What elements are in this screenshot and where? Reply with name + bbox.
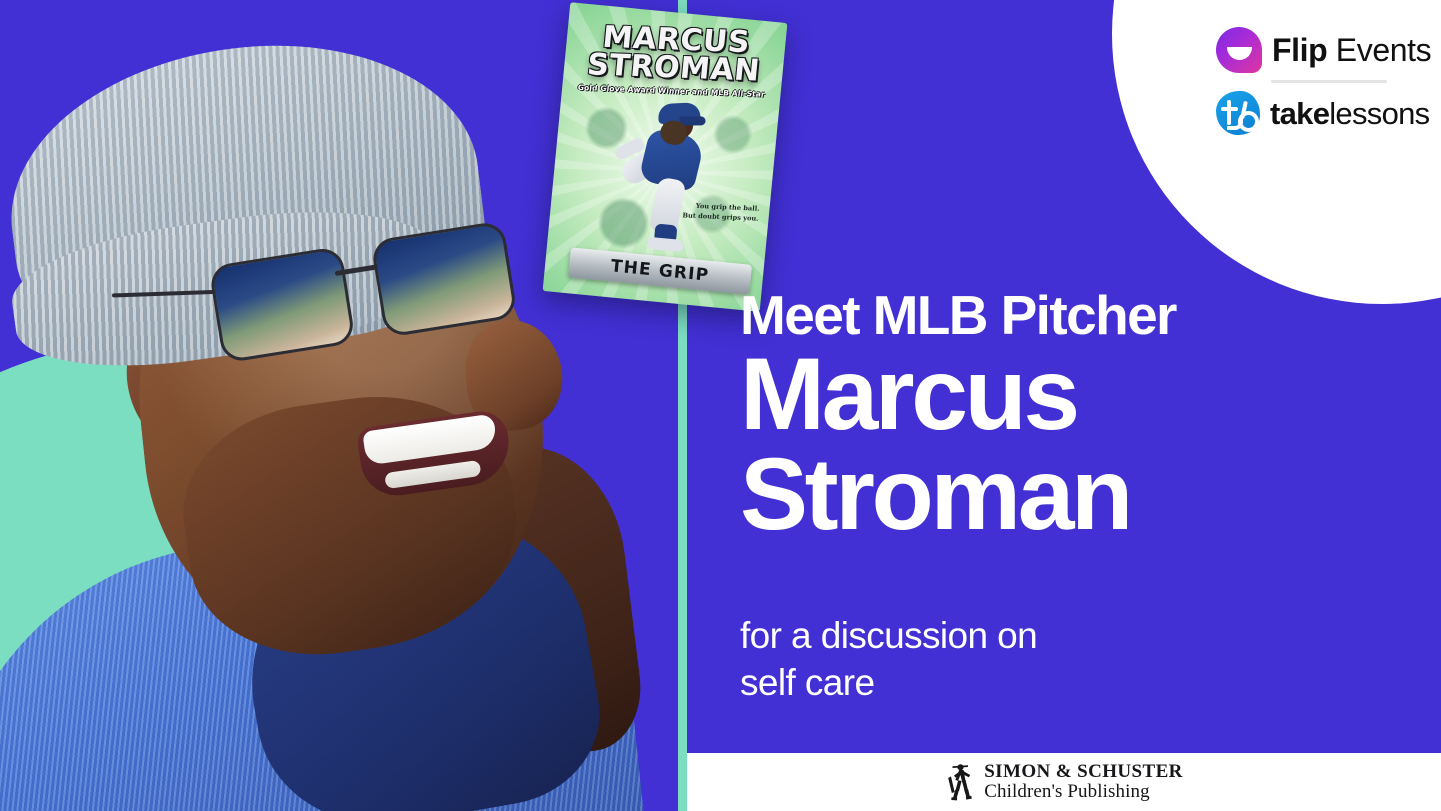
tl-word-bold: take — [1270, 96, 1329, 131]
book-title: MARCUS STROMAN — [563, 23, 787, 87]
tl-l-loop — [1238, 111, 1259, 132]
sunglasses-lens-left — [208, 246, 356, 364]
brand-logo-stack: Flip Events takelessons — [1216, 22, 1441, 140]
book-pitcher-illustration — [606, 93, 732, 253]
tl-word-regular: lessons — [1329, 96, 1429, 131]
book-tagline: You grip the ball. But doubt grips you. — [660, 200, 760, 224]
takelessons-wordmark: takelessons — [1270, 98, 1429, 129]
headline-kicker: Meet MLB Pitcher — [740, 288, 1400, 343]
tl-t-crossbar — [1221, 107, 1238, 111]
sunglasses-lens-right — [370, 220, 518, 338]
headline-name-line2: Stroman — [740, 445, 1400, 545]
publisher-name: SIMON & SCHUSTER — [984, 762, 1183, 782]
portrait-teeth-lower — [384, 460, 481, 489]
book-title-line2: STROMAN — [563, 51, 784, 87]
book-series-label: THE GRIP — [610, 256, 710, 285]
takelessons-logo[interactable]: takelessons — [1216, 86, 1441, 140]
subheadline-line2: self care — [740, 659, 1360, 706]
flip-events-logo[interactable]: Flip Events — [1216, 22, 1441, 78]
publisher-footer-bar: SIMON & SCHUSTER Children's Publishing — [687, 753, 1441, 811]
promo-graphic-canvas: MARCUS STROMAN Gold Glove Award Winner a… — [0, 0, 1441, 811]
flip-smile-shape — [1227, 47, 1252, 60]
headline-name: Marcus Stroman — [740, 345, 1400, 545]
publisher-imprint: Children's Publishing — [984, 782, 1183, 802]
simon-schuster-logo[interactable]: SIMON & SCHUSTER Children's Publishing — [945, 762, 1183, 802]
simon-schuster-sower-icon — [945, 762, 975, 802]
subheadline-line1: for a discussion on — [740, 612, 1360, 659]
flip-speech-bubble-icon — [1216, 27, 1262, 73]
takelessons-tl-monogram-icon — [1216, 91, 1260, 135]
book-cover-the-grip[interactable]: MARCUS STROMAN Gold Glove Award Winner a… — [543, 2, 788, 312]
headline-name-line1: Marcus — [740, 345, 1400, 445]
flip-word-regular: Events — [1336, 32, 1431, 68]
flip-events-wordmark: Flip Events — [1272, 34, 1431, 66]
simon-schuster-wordmark: SIMON & SCHUSTER Children's Publishing — [984, 762, 1183, 802]
flip-word-bold: Flip — [1272, 32, 1327, 68]
subheadline-block: for a discussion on self care — [740, 612, 1360, 707]
logo-separator — [1271, 80, 1387, 83]
headline-block: Meet MLB Pitcher Marcus Stroman — [740, 288, 1400, 545]
